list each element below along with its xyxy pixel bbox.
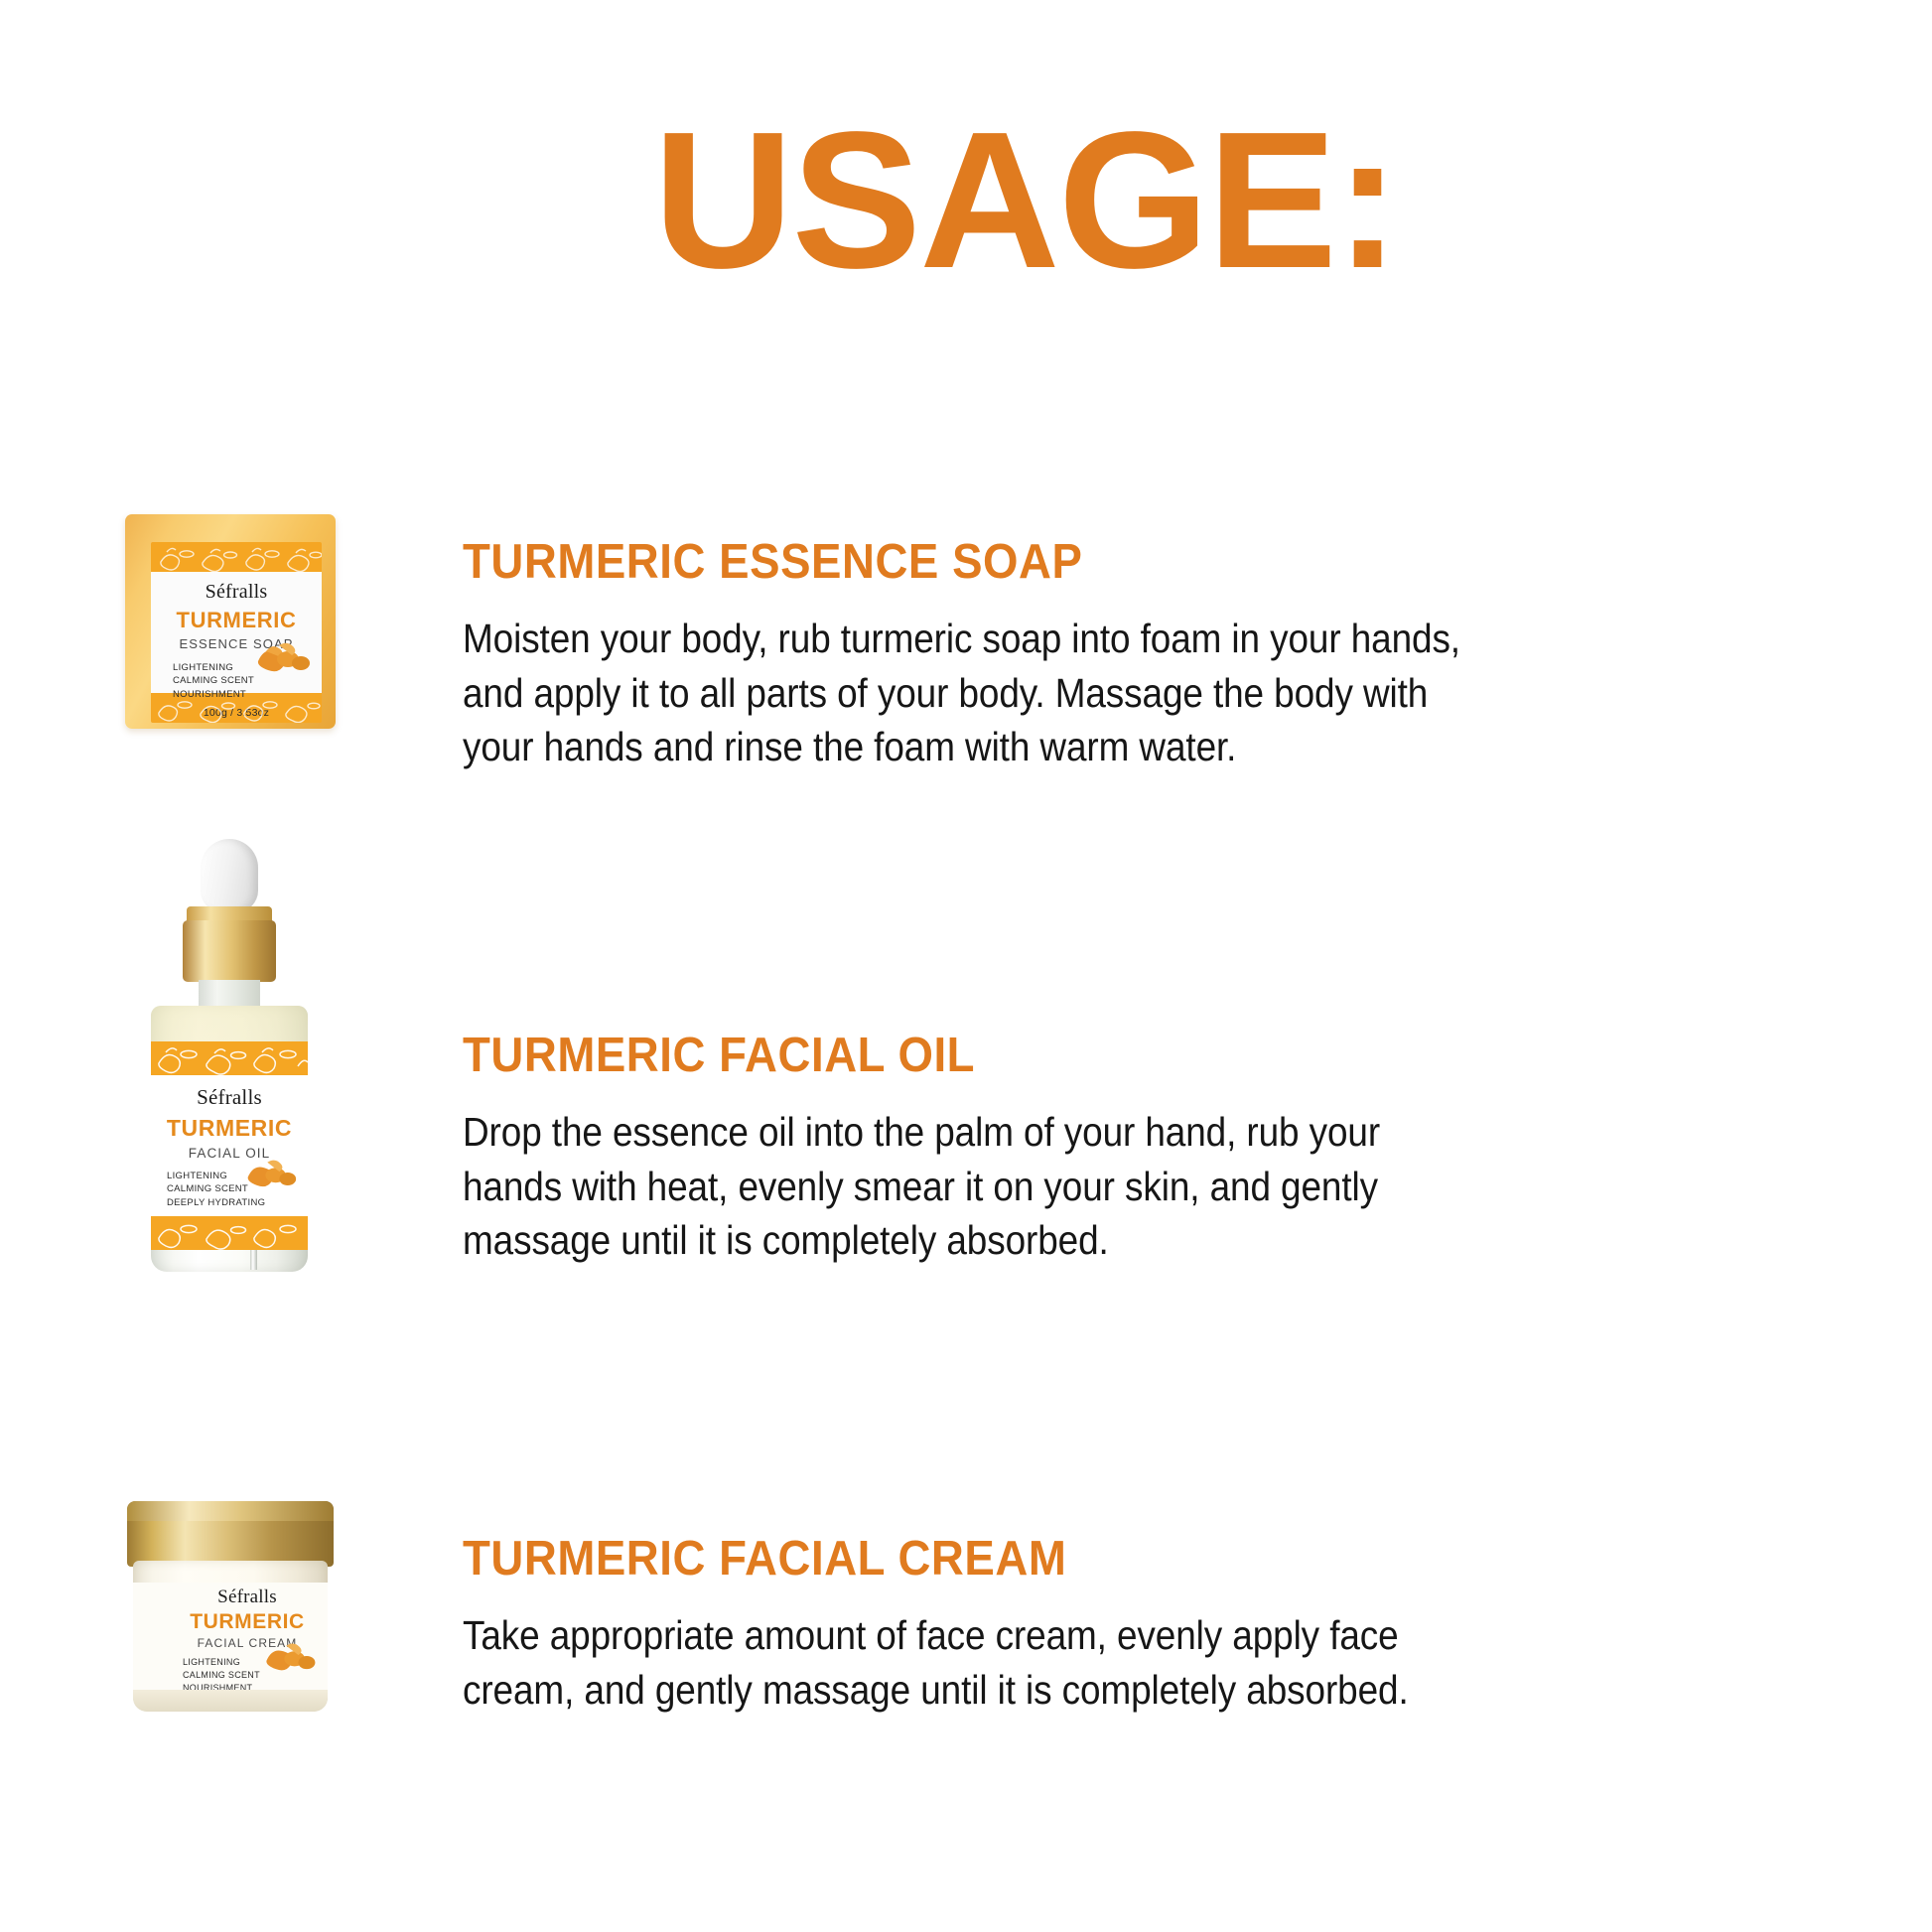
soap-text-block: TURMERIC ESSENCE SOAP Moisten your body,… [463, 514, 1753, 774]
cream-front-label: Séfralls TURMERIC FACIAL CREAM LIGHTENIN… [133, 1583, 328, 1690]
cream-brand-text: Séfralls [133, 1587, 328, 1608]
soap-benefit-item: CALMING SCENT [173, 674, 322, 687]
product-section-oil: Séfralls TURMERIC FACIAL OIL LIGHTENING … [125, 839, 1813, 1276]
ginger-outline-icon [151, 1041, 308, 1075]
product-section-cream: Séfralls TURMERIC FACIAL CREAM LIGHTENIN… [119, 1501, 1807, 1717]
jar-lid-top-rim [127, 1501, 334, 1521]
product-section-soap: Séfralls TURMERIC ESSENCE SOAP LIGHTENIN… [125, 514, 1813, 774]
soap-front-label: Séfralls TURMERIC ESSENCE SOAP LIGHTENIN… [151, 572, 322, 693]
dropper-bottle-image: Séfralls TURMERIC FACIAL OIL LIGHTENING … [125, 839, 334, 1276]
usage-infographic: USAGE: [0, 0, 1932, 1932]
cream-product-visual: Séfralls TURMERIC FACIAL CREAM LIGHTENIN… [119, 1501, 463, 1716]
jar-base [133, 1690, 328, 1712]
ginger-pattern-band-bottom [151, 693, 322, 723]
soap-section-body: Moisten your body, rub turmeric soap int… [463, 612, 1463, 774]
oil-section-body: Drop the essence oil into the palm of yo… [463, 1105, 1410, 1268]
cream-section-body: Take appropriate amount of face cream, e… [463, 1608, 1428, 1717]
ginger-outline-icon [151, 693, 322, 723]
ginger-outline-icon [151, 1216, 308, 1250]
oil-text-block: TURMERIC FACIAL OIL Drop the essence oil… [463, 839, 1753, 1268]
oil-product-visual: Séfralls TURMERIC FACIAL OIL LIGHTENING … [125, 839, 463, 1276]
cream-jar-image: Séfralls TURMERIC FACIAL CREAM LIGHTENIN… [119, 1501, 342, 1716]
page-title: USAGE: [0, 103, 1932, 298]
soap-section-heading: TURMERIC ESSENCE SOAP [463, 534, 1663, 590]
turmeric-root-icon [244, 1157, 302, 1190]
ginger-pattern-band-top [151, 542, 322, 572]
dropper-cap-gold [183, 920, 276, 982]
soap-product-name: TURMERIC [151, 608, 322, 633]
cream-text-block: TURMERIC FACIAL CREAM Take appropriate a… [463, 1501, 1753, 1717]
oil-product-name: TURMERIC [151, 1115, 308, 1142]
ginger-pattern-band-top [151, 1041, 308, 1075]
oil-section-heading: TURMERIC FACIAL OIL [463, 1028, 1663, 1083]
ginger-pattern-band-bottom [151, 1216, 308, 1250]
cream-section-heading: TURMERIC FACIAL CREAM [463, 1531, 1663, 1587]
oil-brand-text: Séfralls [151, 1085, 308, 1110]
jar-glass-body: Séfralls TURMERIC FACIAL CREAM LIGHTENIN… [133, 1561, 328, 1712]
soap-brand-text: Séfralls [151, 581, 322, 604]
soap-product-visual: Séfralls TURMERIC ESSENCE SOAP LIGHTENIN… [125, 514, 463, 729]
cream-product-name: TURMERIC [133, 1610, 328, 1634]
bottle-body: Séfralls TURMERIC FACIAL OIL LIGHTENING … [151, 1006, 308, 1272]
oil-benefit-item: DEEPLY HYDRATING [167, 1196, 308, 1209]
ginger-outline-icon [151, 542, 322, 572]
turmeric-root-icon [262, 1640, 320, 1674]
soap-wrapper: Séfralls TURMERIC ESSENCE SOAP LIGHTENIN… [151, 542, 322, 723]
oil-front-label: Séfralls TURMERIC FACIAL OIL LIGHTENING … [151, 1075, 308, 1224]
turmeric-root-icon [254, 639, 312, 673]
soap-bar-image: Séfralls TURMERIC ESSENCE SOAP LIGHTENIN… [125, 514, 336, 729]
dropper-bulb [201, 839, 258, 912]
